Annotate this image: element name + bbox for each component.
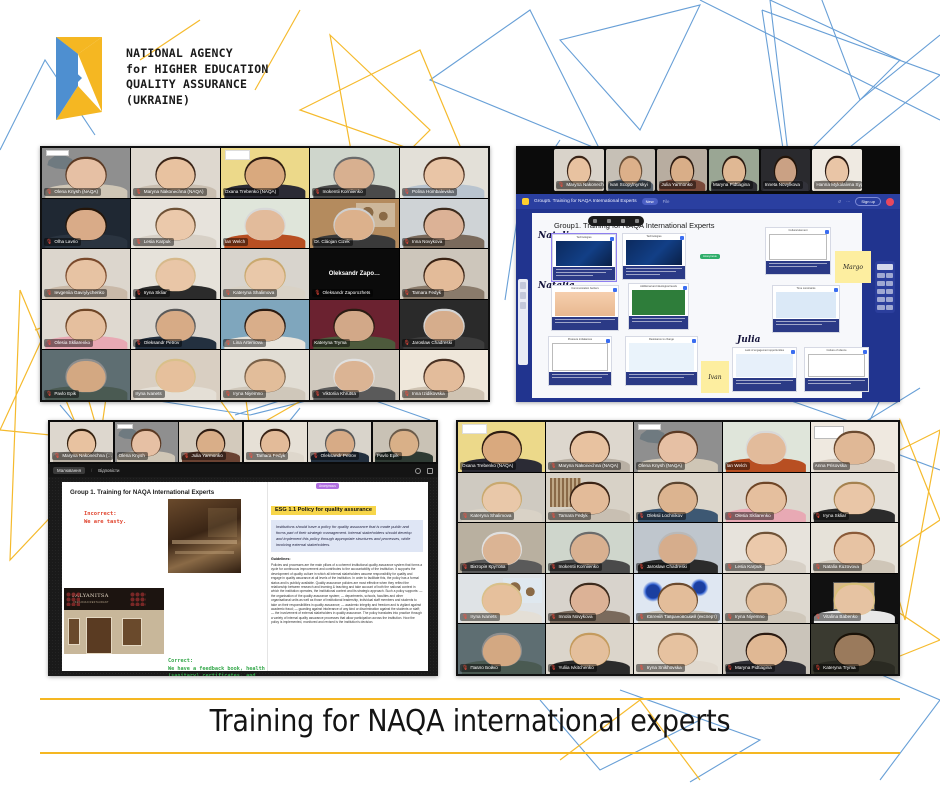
participant-name-text: Maryna Nakonechna (NAQA) <box>144 188 204 196</box>
participant-head <box>424 361 463 392</box>
naqa-logo: NATIONAL AGENCY for HIGHER EDUCATION QUA… <box>48 34 268 124</box>
miro-card[interactable]: Lack of engagement opportunities <box>732 347 797 392</box>
miro-more-icon[interactable]: ⋯ <box>846 199 850 204</box>
video-tile[interactable]: 🎙Pavlo Epik <box>42 350 130 400</box>
participant-name-label: 🎙Kateryna Shalimova <box>223 289 277 297</box>
miro-undo-tool[interactable] <box>877 305 885 310</box>
participant-name-label: 🎙Ievgeniia Gavrylychenko <box>44 289 107 297</box>
participant-head <box>67 311 106 342</box>
panel-top-left-zoom-gallery[interactable]: 🎙Olena Knysh (NAQA)🎙Maryna Nakonechna (N… <box>40 146 490 402</box>
participant-name-label: Inneta Novylkova <box>763 181 803 189</box>
video-tile[interactable]: Maryna Pidtiagina <box>709 149 759 191</box>
participant-name-text: Lesia Karpuk <box>735 563 762 571</box>
participant-name-label: 🎙Iryna Snikhovska <box>636 664 684 672</box>
muted-mic-icon: 🎙 <box>638 664 644 672</box>
participant-name-text: Pavlo Epik <box>377 452 399 460</box>
zoom-gallery-grid[interactable]: Oxana Trebenko (NAQA)🎙Maryna Nakonechna … <box>458 422 898 674</box>
naqa-logo-icon <box>46 150 69 156</box>
naqa-logo-text: NATIONAL AGENCY for HIGHER EDUCATION QUA… <box>126 34 268 108</box>
muted-mic-icon: 🎙 <box>815 664 821 672</box>
participant-head <box>335 159 374 190</box>
logo-line-1: NATIONAL AGENCY <box>126 46 268 62</box>
muted-mic-icon: 🎙 <box>46 188 52 196</box>
naqa-logo-icon <box>117 424 133 429</box>
participant-name-label: 🎙Lina Artemova <box>223 339 266 347</box>
video-tile[interactable]: 🎙Inokentii Korniienko <box>310 148 398 198</box>
muted-mic-icon: 🎙 <box>815 512 821 520</box>
miro-board-title: Group5. Training for NAQA International … <box>534 199 637 204</box>
miro-toolbar[interactable]: Group5. Training for NAQA International … <box>516 194 900 209</box>
participant-name-label: Pavlo Epik <box>375 452 402 460</box>
miro-tool-2[interactable] <box>520 292 526 299</box>
video-tile[interactable]: 🎙Innola Novykova <box>546 574 633 624</box>
participant-name-label: 🎙Oleksandr Petrov <box>133 339 182 347</box>
participant-head <box>659 635 697 666</box>
gear-icon[interactable] <box>415 468 421 474</box>
video-tile[interactable]: Inneta Novylkova <box>761 149 811 191</box>
muted-mic-icon: 🎙 <box>225 289 231 297</box>
participant-name-text: Inna Izidikovska <box>412 390 445 398</box>
participant-name-label: Dr. Cláojan Cizek <box>312 238 353 246</box>
participant-name-label: 🎙Jaroslaw Chadreski <box>636 563 689 571</box>
video-tile[interactable]: 🎙Maryna Nakonechna (NAQA) <box>546 422 633 472</box>
video-tile[interactable]: Olena Knysh (NAQA) <box>634 422 721 472</box>
participant-name-text: Iryna Ivanets <box>470 613 496 621</box>
video-tile[interactable]: 🎙Olesia Sklіarenko <box>42 300 130 350</box>
participant-name-text: Oleksii Lochnikov <box>647 512 683 520</box>
slide-right-column: Anonymous ESG 1.1 Policy for quality ass… <box>267 482 428 671</box>
participant-name-text: Olena Knysh (NAQA) <box>638 462 682 470</box>
participant-name-text: Natalia Kuzovova <box>823 563 859 571</box>
video-tile[interactable]: 🎙Lesia Karpuk <box>131 199 219 249</box>
participant-name-label: 🎙Kateryna Tryma <box>813 664 859 672</box>
esg-guidelines-body: Policies and processes are the main pill… <box>271 563 423 625</box>
video-tile[interactable]: 🎙Yuliia Ivkitchenko <box>546 624 633 674</box>
participant-name-label: Maryna Pidtiagina <box>711 181 753 189</box>
video-tile[interactable]: 🎙Julia Yarmonko <box>179 422 242 462</box>
participant-name-text: Iryna Sklіar <box>823 512 846 520</box>
participant-head <box>835 433 873 464</box>
muted-mic-icon: 🎙 <box>135 289 141 297</box>
video-tile[interactable]: 🎙Olena Knysh (NAQA) <box>42 148 130 198</box>
participant-name-text: Inna Novykova <box>412 238 442 246</box>
participant-name-label: 🎙Iryna Sklіar <box>813 512 849 520</box>
participant-name-label: 🎙Viktoriia Khrutsa <box>312 390 359 398</box>
miro-redo-tool[interactable] <box>886 305 894 310</box>
participant-name-text: Inokentii Korniienko <box>323 188 363 196</box>
participant-name-text: Iryna Snikhovska <box>647 664 682 672</box>
naqa-triangle-logo-icon <box>48 34 110 124</box>
participant-name-label: Olena Knysh (NAQA) <box>636 462 685 470</box>
muted-mic-icon: 🎙 <box>225 390 231 398</box>
participant-name-text: Maryna Pidtiagina <box>735 664 772 672</box>
participant-name-text: Oleksandr Zaporozhets <box>323 289 371 297</box>
participant-head <box>747 534 785 565</box>
video-tile[interactable]: 🎙Jaroslaw Chadreski <box>400 300 488 350</box>
logo-line-3: QUALITY ASSURANCE <box>126 77 268 93</box>
participant-name-label: Olena Knysh <box>117 452 148 460</box>
participant-name-label: 🎙Maryna Nakonechna (NAQA) <box>548 462 621 470</box>
video-tile[interactable]: 🎙Polina Hombalevska <box>400 148 488 198</box>
participant-name-text: Maryna Pidtiagina <box>713 181 750 189</box>
video-tile[interactable]: 🎙Inna Izidikovska <box>400 350 488 400</box>
video-tile[interactable]: 🎙Iryna Sklіar <box>131 249 219 299</box>
miro-remote-cursor: Anonymous <box>700 254 720 259</box>
miro-card[interactable]: Resistance to change <box>625 336 698 386</box>
participant-name-text: Lesia Karpuk <box>144 238 171 246</box>
participant-name-label: 🎙Julia Yarmonko <box>181 452 226 460</box>
video-tile[interactable]: Olena Knysh <box>115 422 178 462</box>
video-tile[interactable]: Ivan Scopylnyrskyi <box>606 149 656 191</box>
miro-shape-tool[interactable] <box>886 281 894 286</box>
miro-tool-3[interactable] <box>520 302 526 309</box>
participant-name-text: Ian Welch <box>225 238 245 246</box>
participant-name-text: Євгеній Таврановський (експерт) <box>647 613 717 621</box>
video-tile[interactable]: Oxana Trebenko (NAQA) <box>221 148 309 198</box>
video-tile[interactable]: 🎙Olesia Sklіarenko <box>723 473 810 523</box>
arrow-icon[interactable] <box>427 468 433 474</box>
video-tile[interactable]: 🎙Oleksandr Petrov <box>131 300 219 350</box>
participant-head <box>659 484 697 515</box>
muted-mic-icon: 🎙 <box>638 512 644 520</box>
miro-card[interactable]: Time constraints <box>772 285 840 333</box>
muted-mic-icon: 🎙 <box>404 238 410 246</box>
participant-name-label: 🎙Павло Бойко <box>460 664 501 672</box>
participant-name-label: Iryna Ivanets <box>133 390 164 398</box>
participant-head <box>482 635 520 666</box>
naqa-logo-icon <box>462 424 486 434</box>
video-tile[interactable]: 🎙Iryna Ivanets <box>458 574 545 624</box>
muted-mic-icon: 🎙 <box>46 390 52 398</box>
participant-head <box>424 311 463 342</box>
panel-top-right-miro[interactable]: 🎙Maryna Nakonechna …Ivan ScopylnyrskyiJu… <box>516 146 900 402</box>
miro-card[interactable]: Technologies <box>622 233 686 280</box>
video-tile[interactable]: 🎙Iryna Sklіar <box>811 473 898 523</box>
participant-head <box>659 534 697 565</box>
participant-name-label: Ivan Scopylnyrskyi <box>608 181 651 189</box>
presentation-slide: Group 1. Training for NAQA International… <box>62 482 428 671</box>
participant-head <box>335 311 374 342</box>
participant-name-label: 🎙Inna Izidikovska <box>402 390 448 398</box>
participant-name-text: Julia Yarmonko <box>661 181 692 189</box>
screenshare-toolbar[interactable]: Малювання / Відповісти <box>48 464 438 477</box>
video-tile[interactable]: 🎙Tamara Fedyk <box>244 422 307 462</box>
video-tile[interactable]: 🎙Inna Novykova <box>400 199 488 249</box>
miro-floating-toolbar[interactable] <box>588 216 644 226</box>
muted-mic-icon: 🎙 <box>727 512 733 520</box>
participant-head <box>156 361 195 392</box>
miro-arrow-tool[interactable] <box>877 289 885 294</box>
video-tile[interactable]: 🎙Natalia Kuzovova <box>811 523 898 573</box>
participant-name-label: 🎙Pavlo Epik <box>44 390 79 398</box>
zoom-gallery-grid[interactable]: 🎙Olena Knysh (NAQA)🎙Maryna Nakonechna (N… <box>42 148 488 400</box>
video-tile[interactable]: Anna Prisovska <box>811 422 898 472</box>
participant-name-text: Ievgeniia Gavrylychenko <box>54 289 104 297</box>
remote-cursor-tag: Anonymous <box>316 483 339 489</box>
muted-mic-icon: 🎙 <box>404 339 410 347</box>
video-tile[interactable]: 🎙Євгеній Таврановський (експерт) <box>634 574 721 624</box>
muted-mic-icon: 🎙 <box>46 238 52 246</box>
participant-head <box>571 484 609 515</box>
muted-mic-icon: 🎙 <box>183 452 189 460</box>
video-tile[interactable]: 🎙Oleksandr Petrov <box>308 422 371 462</box>
screenshare-canvas: Group 1. Training for NAQA International… <box>48 477 438 676</box>
miro-board-icon <box>522 198 529 205</box>
video-tile[interactable]: Iryna Ivanets <box>131 350 219 400</box>
video-tile[interactable]: 🎙Iryna Niyemno <box>723 574 810 624</box>
video-tile[interactable]: Ian Welch <box>221 199 309 249</box>
participant-name-text: Jaroslaw Chadreski <box>647 563 687 571</box>
participant-head <box>67 210 106 241</box>
video-tile[interactable]: 🎙Tamara Fedyk <box>400 249 488 299</box>
video-tile[interactable]: Oleksandr Zapo…🎙Oleksandr Zaporozhets <box>310 249 398 299</box>
muted-mic-icon: 🎙 <box>314 289 320 297</box>
muted-mic-icon: 🎙 <box>404 188 410 196</box>
slide-title: Group 1. Training for NAQA International… <box>70 489 261 496</box>
muted-mic-icon: 🎙 <box>225 339 231 347</box>
video-tile[interactable]: 🎙Maryna Nakonechna … <box>554 149 604 191</box>
participant-name-label: 🎙Olena Knysh (NAQA) <box>44 188 101 196</box>
miro-text-tool[interactable] <box>877 273 885 278</box>
participant-head <box>246 159 285 190</box>
miro-sticky-ivan[interactable]: Ivan <box>701 361 729 393</box>
muted-mic-icon: 🎙 <box>46 339 52 347</box>
zoom-filmstrip[interactable]: 🎙Maryna Nakonechna (…Olena Knysh🎙Julia Y… <box>48 420 438 464</box>
muted-mic-icon: 🎙 <box>314 188 320 196</box>
participant-name-text: Innola Novykova <box>559 613 593 621</box>
participant-head <box>482 433 520 464</box>
participant-name-text: Ivan Scopylnyrskyi <box>610 181 648 189</box>
participant-name-label: 🎙Maryna Nakonechna (… <box>52 452 113 460</box>
restaurant-interior-photo <box>168 499 241 573</box>
miro-pen-tool[interactable] <box>877 281 885 286</box>
participant-head <box>835 484 873 515</box>
muted-mic-icon: 🎙 <box>550 563 556 571</box>
miro-card[interactable]: Culture of silence <box>804 347 869 392</box>
participant-name-label: 🎙Tamara Fedyk <box>548 512 590 520</box>
participant-name-label: 🎙Innola Novykova <box>548 613 595 621</box>
panel-bottom-right-zoom-gallery[interactable]: Oxana Trebenko (NAQA)🎙Maryna Nakonechna … <box>456 420 900 676</box>
restaurant-facade-photo: PALYANITSA UKRAINIAN RESTAURANT <box>64 588 164 654</box>
miro-card[interactable]: Pressure imbalances <box>548 336 612 386</box>
video-tile[interactable]: 🎙Павло Бойко <box>458 624 545 674</box>
muted-mic-icon: 🎙 <box>462 664 468 672</box>
participant-name-text: Viktoriia Khrutsa <box>323 390 356 398</box>
miro-menu-file[interactable]: File <box>663 199 670 204</box>
zoom-filmstrip[interactable]: 🎙Maryna Nakonechna …Ivan ScopylnyrskyiJu… <box>516 146 900 194</box>
video-tile[interactable]: 🎙Maryna Pidtiagina <box>723 624 810 674</box>
participant-name-label: Oxana Trebenko (NAQA) <box>460 462 516 470</box>
muted-mic-icon: 🎙 <box>638 613 644 621</box>
toolbar-separator: / <box>91 468 92 473</box>
participant-name-text: Oxana Trebenko (NAQA) <box>225 188 276 196</box>
video-tile[interactable]: Dr. Cláojan Cizek <box>310 199 398 249</box>
participant-name-label: Oxana Trebenko (NAQA) <box>223 188 279 196</box>
participant-name-text: Kateryna Shalimova <box>233 289 274 297</box>
video-tile[interactable]: Julia Yarmonko <box>657 149 707 191</box>
miro-left-toolbar[interactable] <box>518 279 528 365</box>
miro-tool-1[interactable] <box>520 282 526 289</box>
miro-signup-button[interactable]: Sign up <box>855 197 881 206</box>
draw-button[interactable]: Малювання <box>53 467 85 474</box>
muted-mic-icon: 🎙 <box>135 188 141 196</box>
participant-head <box>482 534 520 565</box>
participant-head <box>67 361 106 392</box>
participant-name-label: 🎙Tamara Fedyk <box>246 452 288 460</box>
miro-more-tool[interactable] <box>886 297 894 302</box>
participant-head <box>246 311 285 342</box>
participant-name-label: 🎙Natalia Kuzovova <box>813 563 862 571</box>
muted-mic-icon: 🎙 <box>404 289 410 297</box>
esg-title: ESG 1.1 Policy for quality assurance <box>271 506 376 515</box>
slide-left-column: Group 1. Training for NAQA International… <box>62 482 267 671</box>
muted-mic-icon: 🎙 <box>314 390 320 398</box>
muted-mic-icon: 🎙 <box>135 238 141 246</box>
video-tile[interactable]: 🎙Lesia Karpuk <box>723 523 810 573</box>
reply-button[interactable]: Відповісти <box>98 468 119 473</box>
participant-name-text: Tamara Fedyk <box>256 452 285 460</box>
participant-name-label: 🎙Olha Lavrio <box>44 238 81 246</box>
participant-head <box>747 585 785 616</box>
participant-head <box>482 585 520 616</box>
miro-card[interactable]: Additional and ideological levels <box>628 283 689 330</box>
video-tile[interactable]: 🎙Kateryna Shalimova <box>221 249 309 299</box>
participant-head <box>156 159 195 190</box>
video-tile[interactable]: Pavlo Epik <box>373 422 436 462</box>
miro-sticky-margo[interactable]: Margo <box>835 251 871 283</box>
participant-name-label: 🎙Євгеній Таврановський (експерт) <box>636 613 720 621</box>
participant-name-text: Iryna Sklіar <box>144 289 167 297</box>
esg-guidelines-label: Guidelines: <box>271 557 423 561</box>
participant-name-text: Iryna Ivanets <box>135 390 161 398</box>
muted-mic-icon: 🎙 <box>558 181 564 189</box>
muted-mic-icon: 🎙 <box>727 613 733 621</box>
participant-head <box>659 585 697 616</box>
participant-name-label: 🎙Kateryna Shalimova <box>460 512 514 520</box>
participant-head <box>246 260 285 291</box>
video-tile[interactable]: 🎙Lina Artemova <box>221 300 309 350</box>
video-tile[interactable]: 🎙Tamara Fedyk <box>546 473 633 523</box>
video-tile[interactable]: 🎙Maryna Nakonechna (… <box>50 422 113 462</box>
muted-mic-icon: 🎙 <box>462 563 468 571</box>
muted-mic-icon: 🎙 <box>404 390 410 398</box>
video-tile[interactable]: 🎙Vitalina Babenko <box>811 574 898 624</box>
page-title: Training for NAQA international experts <box>0 704 940 739</box>
video-tile[interactable]: Kateryna Tryma <box>310 300 398 350</box>
participant-name-label: Hanna Mykolaivna Syp… <box>814 181 862 189</box>
video-tile[interactable]: 🎙Iryna Niyemno <box>221 350 309 400</box>
muted-mic-icon: 🎙 <box>550 512 556 520</box>
video-tile[interactable]: Oxana Trebenko (NAQA) <box>458 422 545 472</box>
logo-line-4: (UKRAINE) <box>126 93 268 109</box>
muted-mic-icon: 🎙 <box>815 563 821 571</box>
muted-mic-icon: 🎙 <box>248 452 254 460</box>
video-tile[interactable]: 🎙Oleksii Lochnikov <box>634 473 721 523</box>
video-tile[interactable]: 🎙Kateryna Shalimova <box>458 473 545 523</box>
participant-name-label: Ian Welch <box>223 238 248 246</box>
video-tile[interactable]: 🎙Ievgeniia Gavrylychenko <box>42 249 130 299</box>
participant-head <box>67 159 106 190</box>
esg-standard-text: Institutions should have a policy for qu… <box>276 524 418 548</box>
participant-name-text: Olesia Sklіarenko <box>735 512 771 520</box>
muted-mic-icon: 🎙 <box>135 339 141 347</box>
participant-head <box>335 210 374 241</box>
naqa-logo-icon <box>225 150 250 160</box>
participant-name-label: 🎙Tamara Fedyk <box>402 289 444 297</box>
panel-bottom-left-screenshare[interactable]: 🎙Maryna Nakonechna (…Olena Knysh🎙Julia Y… <box>48 420 438 676</box>
video-tile[interactable]: Ian Welch <box>723 422 810 472</box>
miro-card[interactable]: Communication barriers <box>551 285 619 331</box>
participant-head <box>747 433 785 464</box>
participant-name-text: Anna Prisovska <box>815 462 847 470</box>
video-tile[interactable]: 🎙Olha Lavrio <box>42 199 130 249</box>
participant-name-text: Oleksandr Petrov <box>321 452 357 460</box>
participant-name-label: Anna Prisovska <box>813 462 850 470</box>
participant-name-text: Dr. Cláojan Cizek <box>314 238 350 246</box>
participant-name-label: 🎙Maryna Pidtiagina <box>725 664 775 672</box>
video-tile[interactable]: 🎙Maryna Nakonechna (NAQA) <box>131 148 219 198</box>
participant-head <box>156 210 195 241</box>
miro-type-tool[interactable] <box>886 273 894 278</box>
participant-name-label: 🎙Vitalina Babenko <box>813 613 861 621</box>
slide-correct-label: Correct: <box>168 658 280 666</box>
slide-correct-text: We have a feedback book, health (sanitar… <box>168 666 280 676</box>
participant-name-text: Inokentii Korniienko <box>559 563 599 571</box>
participant-name-text: Павло Бойко <box>470 664 498 672</box>
video-tile[interactable]: 🎙Вікторія Крутова <box>458 523 545 573</box>
video-tile[interactable]: 🎙Kateryna Tryma <box>811 624 898 674</box>
miro-card[interactable]: Technologies <box>552 234 616 281</box>
video-tile[interactable]: 🎙Iryna Snikhovska <box>634 624 721 674</box>
participant-name-label: 🎙Yuliia Ivkitchenko <box>548 664 597 672</box>
video-tile[interactable]: 🎙Jaroslaw Chadreski <box>634 523 721 573</box>
participant-name-label: 🎙Lesia Karpuk <box>133 238 173 246</box>
participant-name-text: Oxana Trebenko (NAQA) <box>462 462 513 470</box>
participant-name-text: Olha Lavrio <box>54 238 78 246</box>
esg-guidelines-text: Policies and processes are the main pill… <box>271 563 423 625</box>
participant-name-label: 🎙Lesia Karpuk <box>725 563 765 571</box>
participant-head <box>659 433 697 464</box>
participant-name-text: Maryna Nakonechna (… <box>62 452 112 460</box>
participant-head <box>571 433 609 464</box>
miro-frame-tool[interactable] <box>886 289 894 294</box>
logo-line-2: for HIGHER EDUCATION <box>126 62 268 78</box>
participant-name-label: 🎙Inokentii Korniienko <box>312 188 365 196</box>
miro-undo-icon[interactable]: ↺ <box>838 199 842 204</box>
participant-name-text: Tamara Fedyk <box>412 289 441 297</box>
miro-avatar[interactable] <box>886 198 894 206</box>
participant-name-text: Ian Welch <box>727 462 747 470</box>
participant-name-label: 🎙Maryna Nakonechna (NAQA) <box>133 188 206 196</box>
participant-name-label: Julia Yarmonko <box>659 181 695 189</box>
muted-mic-icon: 🎙 <box>638 563 644 571</box>
miro-board-sheet[interactable]: Group1. Training for NAQA International … <box>532 213 862 398</box>
participant-name-text: Kateryna Tryma <box>823 664 855 672</box>
participant-name-text: Kateryna Tryma <box>314 339 346 347</box>
miro-comment-tool[interactable] <box>877 297 885 302</box>
participant-name-text: Olena Knysh (NAQA) <box>54 188 98 196</box>
participant-name-label: 🎙Iryna Niyemno <box>223 390 266 398</box>
participant-head <box>335 361 374 392</box>
miro-canvas[interactable]: Group1. Training for NAQA International … <box>516 209 900 402</box>
naqa-logo-icon <box>638 424 661 430</box>
miro-card[interactable]: Cultural element <box>765 227 831 275</box>
video-tile[interactable]: 🎙Viktoriia Khrutsa <box>310 350 398 400</box>
video-tile[interactable]: 🎙Inokentii Korniienko <box>546 523 633 573</box>
miro-cursor-tool[interactable] <box>877 264 893 270</box>
miro-right-toolbar[interactable] <box>875 261 895 313</box>
video-tile[interactable]: Hanna Mykolaivna Syp… <box>812 149 862 191</box>
